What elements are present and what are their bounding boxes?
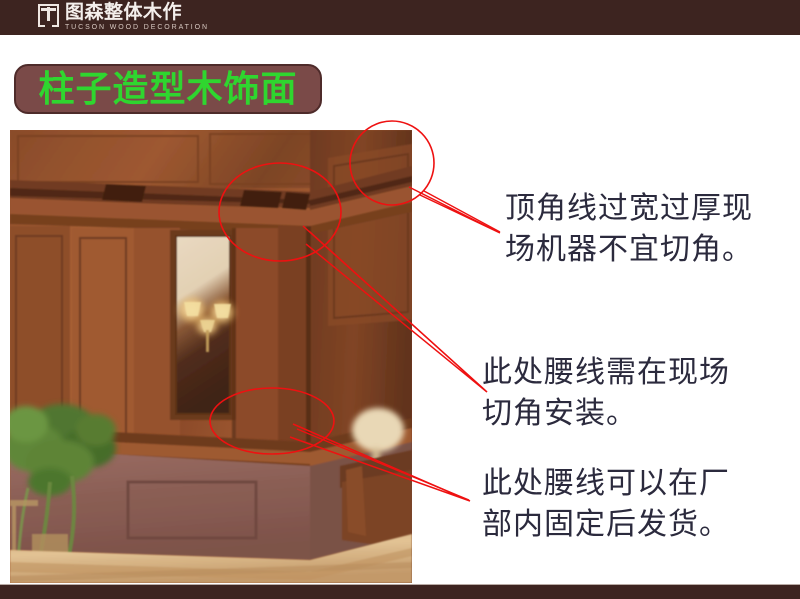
annotation-note-2: 此处腰线需在现场 切角安装。: [482, 352, 730, 434]
footer-bar: [0, 585, 800, 599]
brand-name-cn: 图森整体木作: [65, 3, 209, 23]
slide-canvas: 图森整体木作 TUCSON WOOD DECORATION 柱子造型木饰面: [0, 0, 800, 599]
tucson-gate-mark-icon: [38, 4, 59, 27]
interior-photo: [10, 130, 412, 583]
annotation-note-3: 此处腰线可以在厂 部内固定后发货。: [482, 463, 730, 545]
page-title: 柱子造型木饰面: [38, 69, 297, 109]
interior-photo-content: [10, 130, 412, 583]
brand-wordmark: 图森整体木作 TUCSON WOOD DECORATION: [65, 3, 209, 32]
header-bar: 图森整体木作 TUCSON WOOD DECORATION: [0, 0, 800, 35]
annotation-note-1: 顶角线过宽过厚现 场机器不宜切角。: [505, 188, 753, 270]
brand-name-en: TUCSON WOOD DECORATION: [65, 23, 209, 32]
slide-title-banner: 柱子造型木饰面: [14, 64, 322, 114]
brand-logo: 图森整体木作 TUCSON WOOD DECORATION: [38, 3, 209, 33]
